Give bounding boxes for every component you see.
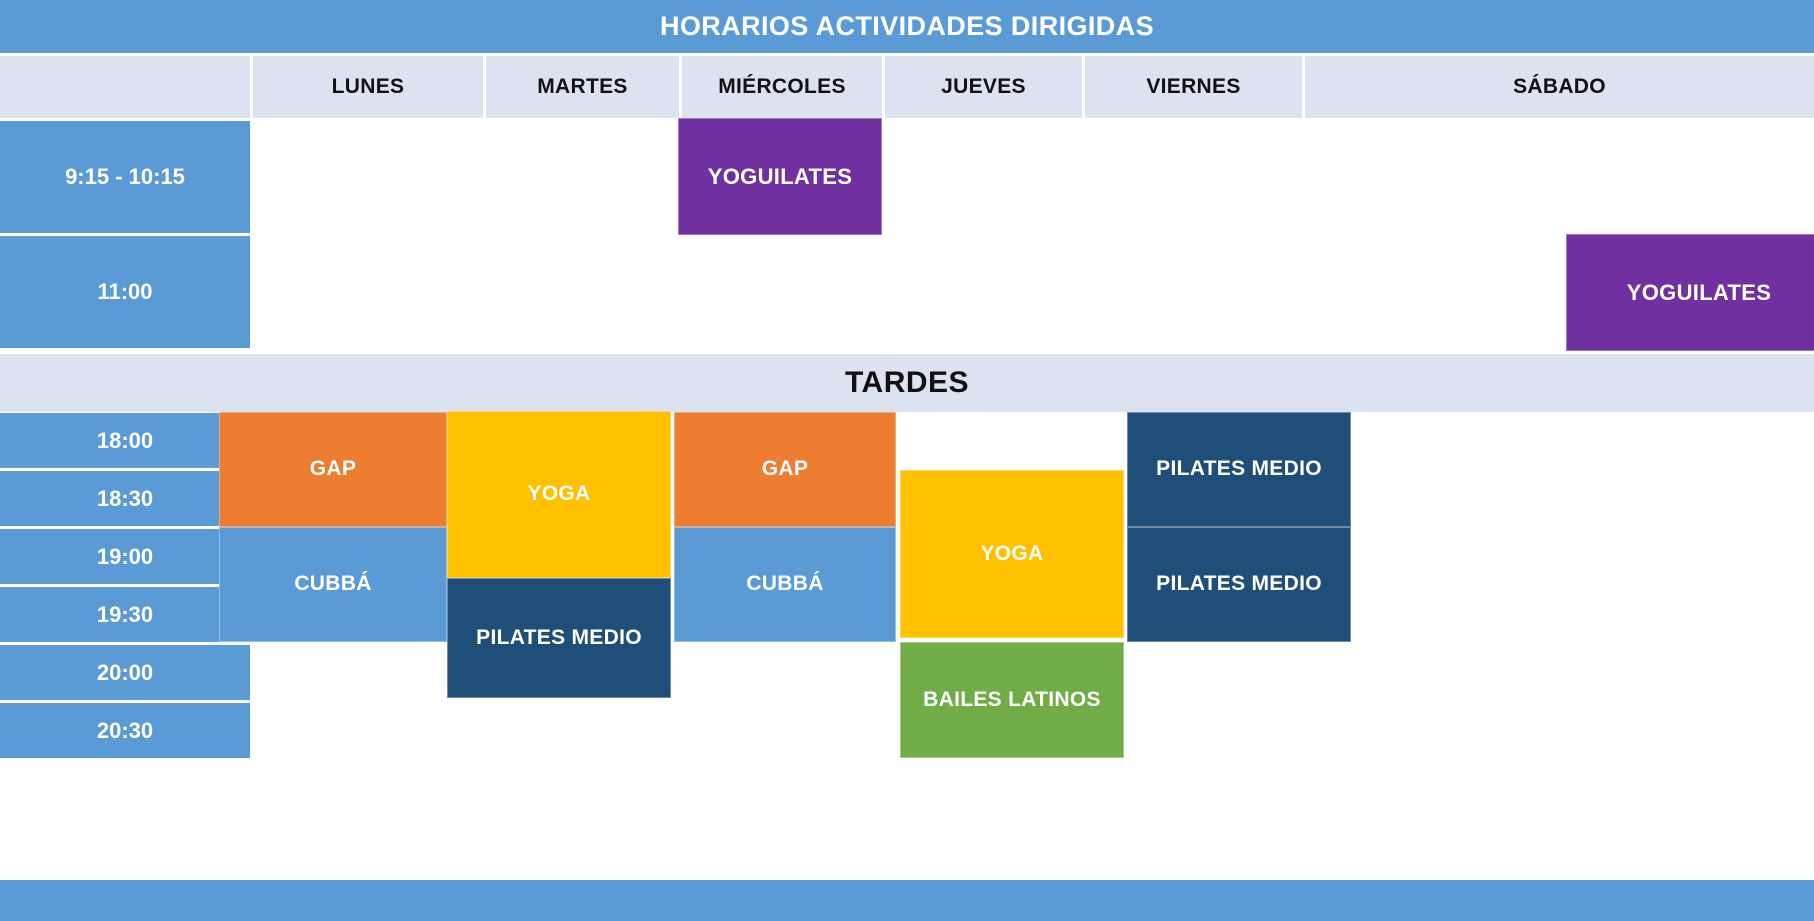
day-header-miercoles: MIÉRCOLES [682, 56, 885, 118]
tardes-label: TARDES [845, 366, 969, 400]
activity-block-yoguilates-miercoles[interactable]: YOGUILATES [678, 118, 882, 235]
activity-block-yoga-jueves[interactable]: YOGA [900, 470, 1124, 638]
time-cell-0915-1015: 9:15 - 10:15 [0, 121, 253, 236]
day-header-jueves: JUEVES [885, 56, 1085, 118]
activity-block-yoguilates-sabado[interactable]: YOGUILATES [1566, 234, 1814, 351]
activity-block-cubba-lunes[interactable]: CUBBÁ [219, 527, 447, 642]
activity-block-pilates-medio-viernes-late[interactable]: PILATES MEDIO [1127, 527, 1351, 642]
page-title: HORARIOS ACTIVIDADES DIRIGIDAS [660, 11, 1154, 42]
activity-block-gap-miercoles[interactable]: GAP [674, 412, 896, 527]
time-cell-1900: 19:00 [0, 529, 253, 587]
header-corner-cell [0, 56, 253, 118]
time-cell-1930: 19:30 [0, 587, 253, 645]
tardes-section-band: TARDES [0, 354, 1814, 412]
day-header-row: LUNES MARTES MIÉRCOLES JUEVES VIERNES SÁ… [0, 56, 1814, 118]
day-header-martes: MARTES [486, 56, 682, 118]
time-cell-1800: 18:00 [0, 413, 253, 471]
day-header-viernes: VIERNES [1085, 56, 1305, 118]
day-header-lunes: LUNES [253, 56, 486, 118]
footer-bar [0, 880, 1814, 921]
time-cell-2030: 20:30 [0, 703, 253, 761]
page-title-bar: HORARIOS ACTIVIDADES DIRIGIDAS [0, 0, 1814, 53]
activity-block-yoga-martes[interactable]: YOGA [447, 411, 671, 578]
schedule-page: HORARIOS ACTIVIDADES DIRIGIDAS LUNES MAR… [0, 0, 1814, 921]
day-header-sabado: SÁBADO [1305, 56, 1814, 118]
time-cell-1830: 18:30 [0, 471, 253, 529]
activity-block-cubba-miercoles[interactable]: CUBBÁ [674, 527, 896, 642]
activity-block-bailes-latinos-jueves[interactable]: BAILES LATINOS [900, 642, 1124, 758]
activity-block-pilates-medio-viernes-early[interactable]: PILATES MEDIO [1127, 412, 1351, 527]
time-cell-2000: 20:00 [0, 645, 253, 703]
time-cell-1100: 11:00 [0, 236, 253, 351]
activity-block-pilates-medio-martes[interactable]: PILATES MEDIO [447, 578, 671, 698]
activity-block-gap-lunes[interactable]: GAP [219, 412, 447, 527]
